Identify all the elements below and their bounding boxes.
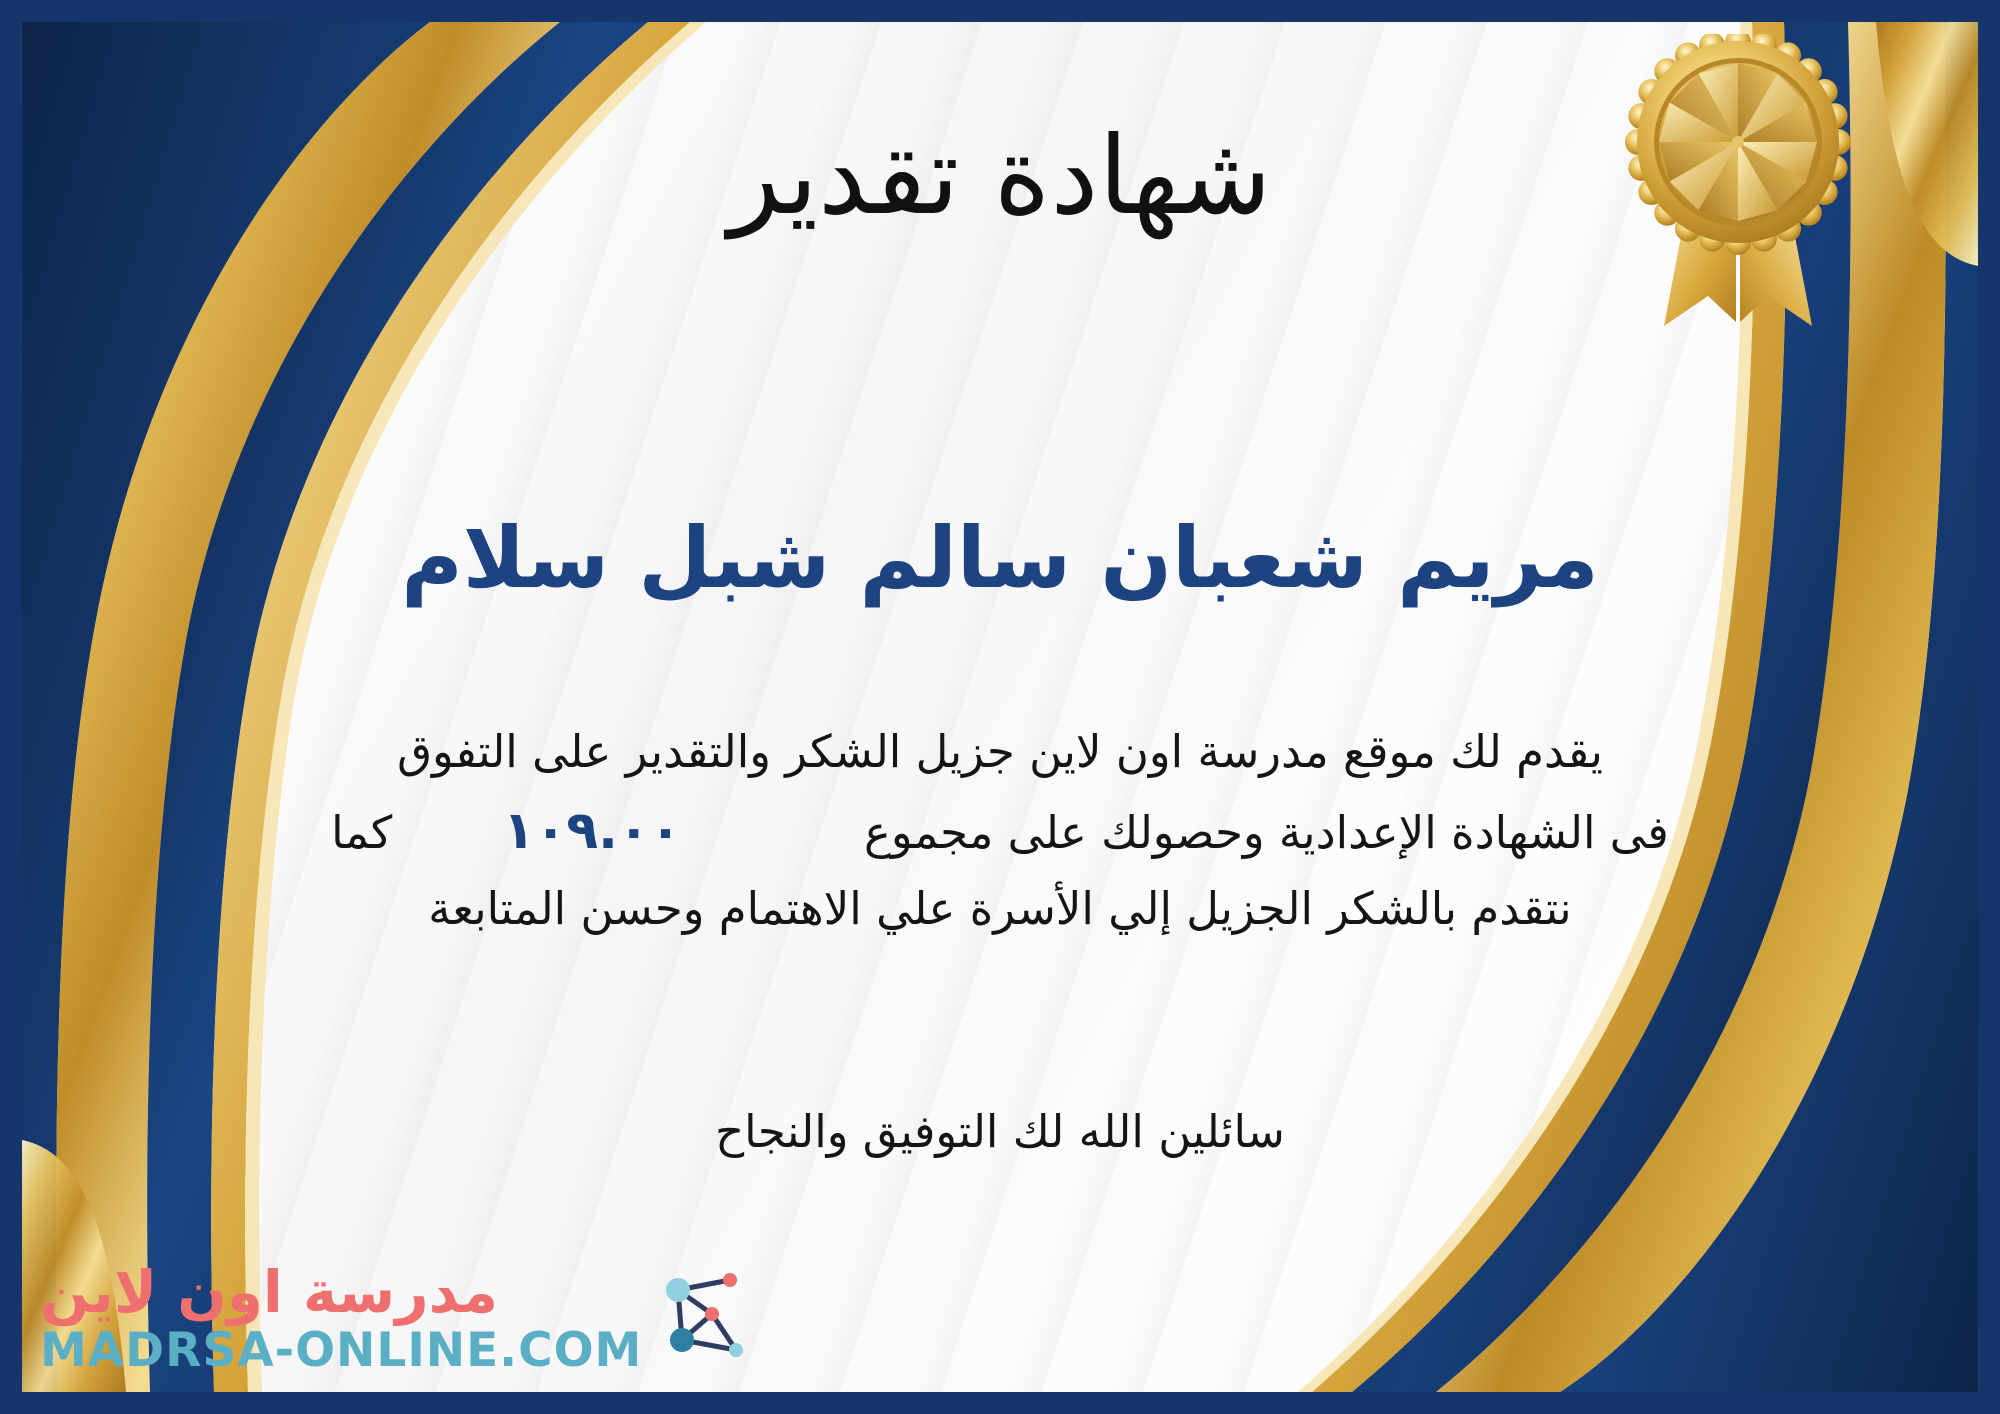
network-nodes-icon <box>652 1266 748 1370</box>
certificate-body: يقدم لك موقع مدرسة اون لاين جزيل الشكر و… <box>0 716 2000 946</box>
site-logo-domain: MADRSA-ONLINE.COM <box>40 1327 642 1374</box>
body-line-2-left: كما <box>331 806 392 859</box>
body-line-1: يقدم لك موقع مدرسة اون لاين جزيل الشكر و… <box>0 716 2000 789</box>
certificate-title: شهادة تقدير <box>0 118 2000 237</box>
site-logo-arabic-name: مدرسة اون لاين <box>40 1263 498 1321</box>
site-logo-text: مدرسة اون لاين MADRSA-ONLINE.COM <box>40 1263 642 1374</box>
certificate-page: شهادة تقدير مريم شعبان سالم شبل سلام يقد… <box>0 0 2000 1414</box>
site-logo: مدرسة اون لاين MADRSA-ONLINE.COM <box>40 1248 620 1388</box>
student-name: مريم شعبان سالم شبل سلام <box>0 510 2000 607</box>
closing-wish: سائلين الله لك التوفيق والنجاح <box>0 1098 2000 1166</box>
grade-value: ١٠٩.٠٠ <box>469 801 715 861</box>
body-line-2-right: فى الشهادة الإعدادية وحصولك على مجموع <box>864 806 1669 859</box>
body-line-3: نتقدم بالشكر الجزيل إلي الأسرة علي الاهت… <box>0 873 2000 946</box>
body-line-2: فى الشهادة الإعدادية وحصولك على مجموع ١٠… <box>0 789 2000 873</box>
